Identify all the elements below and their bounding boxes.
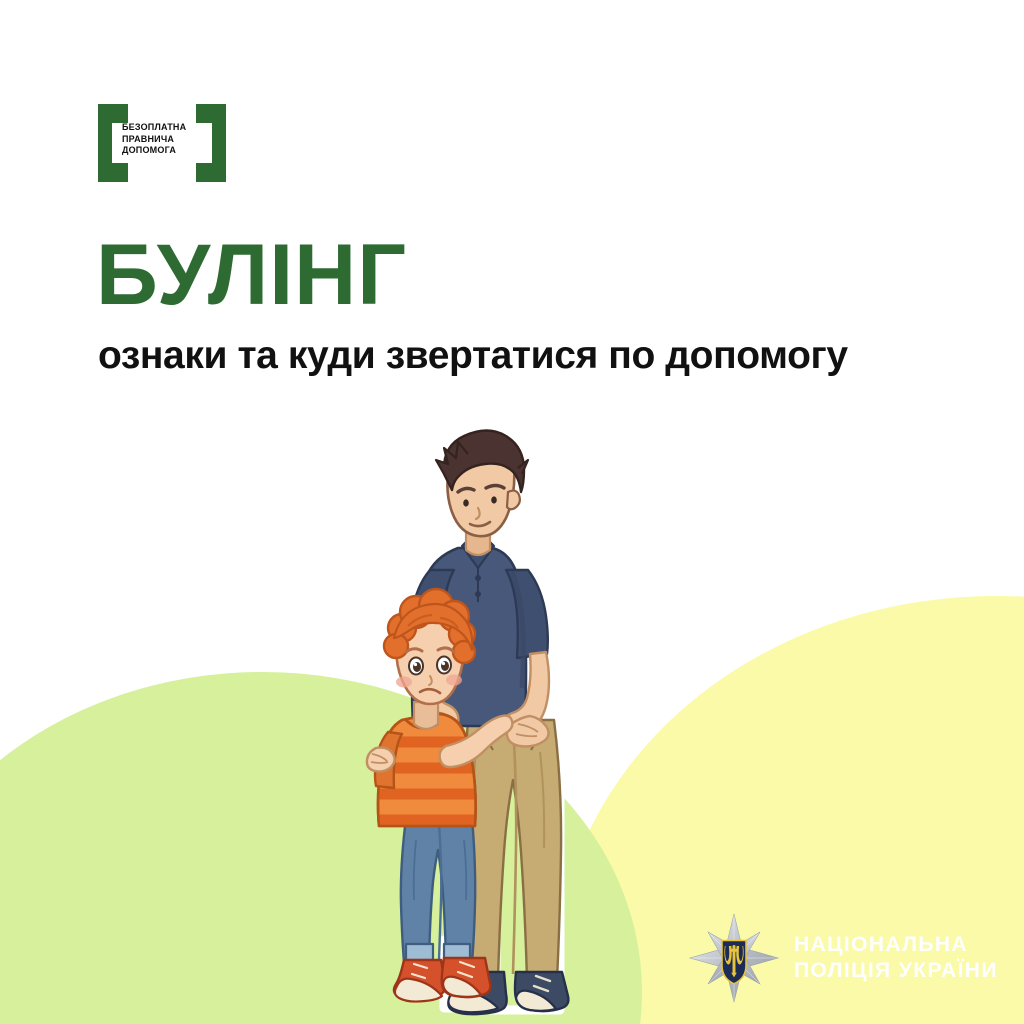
page-title: БУЛІНГ <box>96 232 407 318</box>
page-subtitle: ознаки та куди звертатися по допомогу <box>98 336 848 377</box>
police-line-1: НАЦІОНАЛЬНА <box>794 932 998 958</box>
poster-canvas: БЕЗОПЛАТНА ПРАВНИЧА ДОПОМОГА БУЛІНГ озна… <box>0 0 1024 1024</box>
logo-line-1: БЕЗОПЛАТНА <box>122 122 206 134</box>
adult-comforting-boy-illustration <box>340 420 660 1024</box>
child-left-shoe <box>394 960 445 1002</box>
police-line-2: ПОЛІЦІЯ УКРАЇНИ <box>794 958 998 984</box>
adult-right-shoe <box>515 972 568 1011</box>
logo-line-2: ПРАВНИЧА <box>122 134 206 146</box>
national-police-of-ukraine-badge-icon <box>688 912 780 1004</box>
police-wordmark: НАЦІОНАЛЬНА ПОЛІЦІЯ УКРАЇНИ <box>794 932 998 984</box>
logo-text: БЕЗОПЛАТНА ПРАВНИЧА ДОПОМОГА <box>122 122 206 157</box>
free-legal-aid-logo: БЕЗОПЛАТНА ПРАВНИЧА ДОПОМОГА <box>98 104 226 182</box>
logo-line-3: ДОПОМОГА <box>122 145 206 157</box>
national-police-block: НАЦІОНАЛЬНА ПОЛІЦІЯ УКРАЇНИ <box>688 912 998 1004</box>
child-right-shoe <box>442 958 491 997</box>
